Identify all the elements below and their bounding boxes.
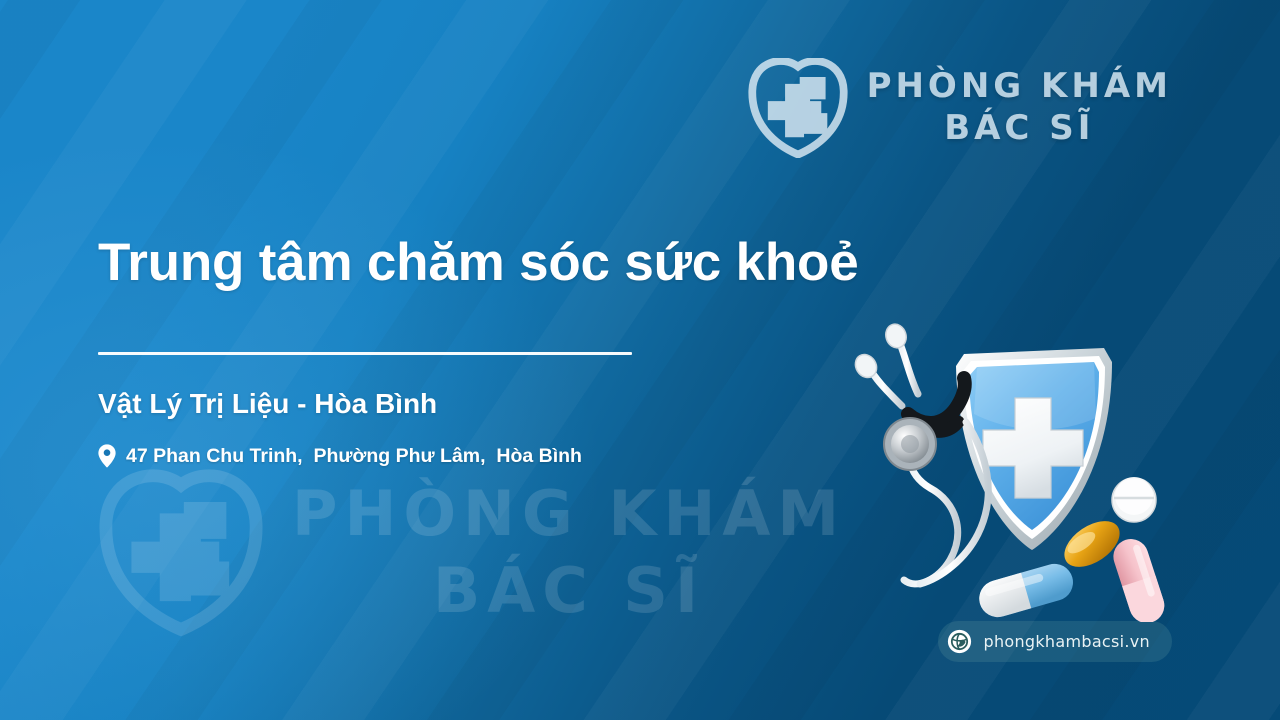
medical-cross-heart-icon [96,468,266,638]
page-title: Trung tâm chăm sóc sức khoẻ [98,232,888,293]
map-pin-icon [98,444,116,468]
divider [98,352,632,355]
headline-block: Trung tâm chăm sóc sức khoẻ Vật Lý Trị L… [98,232,888,468]
website-url: phongkhambacsi.vn [983,632,1150,651]
pill-round-tablet [1112,477,1156,522]
watermark-line2: BÁC SĨ [433,561,705,622]
watermark-line1: PHÒNG KHÁM [292,484,846,545]
medical-cross-heart-icon [745,58,851,158]
globe-logo-icon [947,629,972,654]
clinic-name: Vật Lý Trị Liệu - Hòa Bình [98,388,888,420]
brand-logo: PHÒNG KHÁM BÁC SĨ [745,58,1172,158]
address-text: 47 Phan Chu Trinh, Phường Phư Lâm, Hòa B… [126,445,582,468]
medical-shield-stethoscope-pills-illustration [846,322,1186,622]
clinic-banner: PHÒNG KHÁM BÁC SĨ PHÒNG KHÁM BÁC SĨ Trun… [0,0,1280,720]
address-row: 47 Phan Chu Trinh, Phường Phư Lâm, Hòa B… [98,444,888,468]
brand-line2: BÁC SĨ [944,111,1094,147]
watermark-logo: PHÒNG KHÁM BÁC SĨ [96,468,846,638]
pill-pink-capsule [1109,534,1169,622]
website-badge[interactable]: phongkhambacsi.vn [938,621,1172,662]
brand-line1: PHÒNG KHÁM [867,69,1172,105]
pill-blue-white-capsule [975,559,1077,621]
